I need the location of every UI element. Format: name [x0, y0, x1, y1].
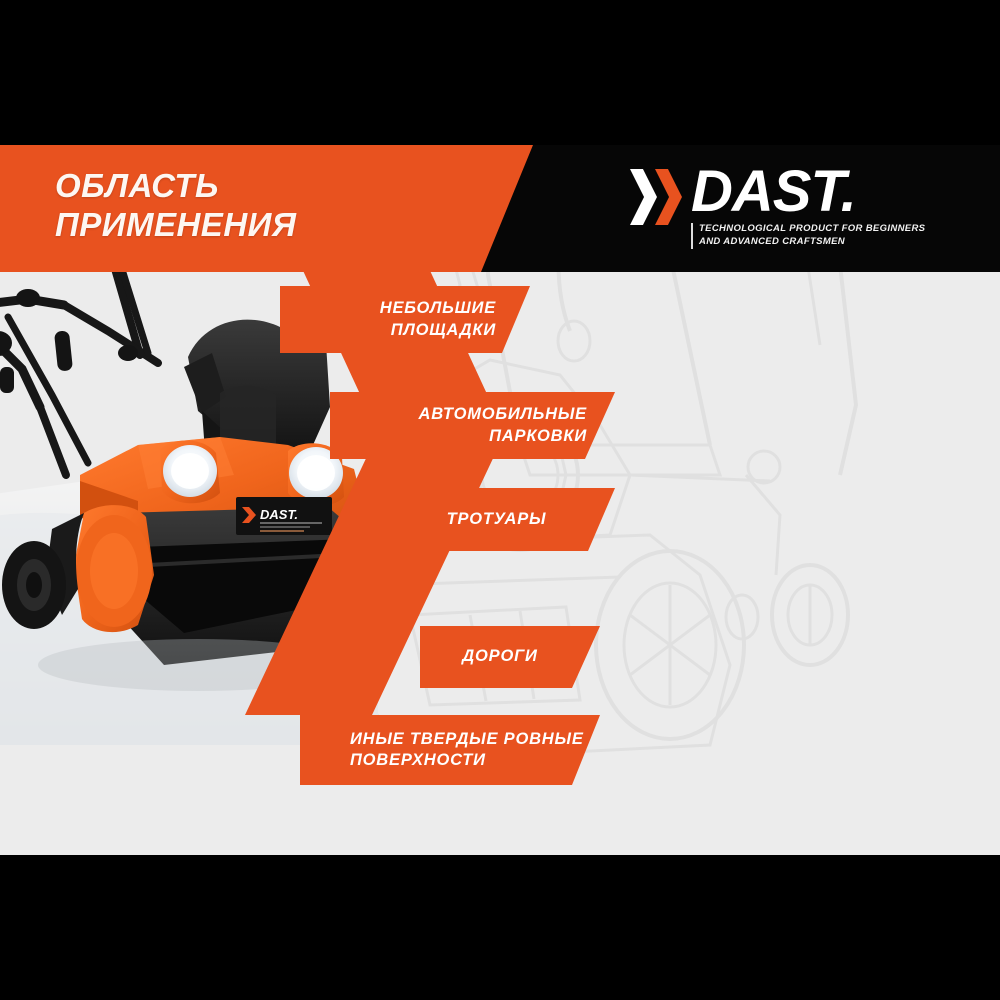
logo-chevron-group	[630, 169, 682, 225]
tab-1-line-2: ПЛОЩАДКИ	[380, 320, 496, 341]
brand-logo[interactable]: DAST. TECHNOLOGICAL PRODUCT FOR BEGINNER…	[630, 165, 925, 249]
chevron-right-icon-white	[630, 169, 657, 225]
tagline-line-2: AND ADVANCED CRAFTSMEN	[699, 236, 925, 249]
tab-5-line-1: ИНЫЕ ТВЕРДЫЕ РОВНЫЕ	[350, 729, 584, 750]
chevron-right-icon-orange	[655, 169, 682, 225]
tagline-line-1: TECHNOLOGICAL PRODUCT FOR BEGINNERS	[699, 223, 925, 236]
poster-canvas: DAST. НЕБОЛЬШИЕ ПЛОЩАДКИ	[0, 0, 1000, 1000]
tab-roads[interactable]: ДОРОГИ	[420, 626, 600, 688]
tab-4-line-1: ДОРОГИ	[462, 646, 537, 667]
tab-other-hard-flat-surfaces[interactable]: ИНЫЕ ТВЕРДЫЕ РОВНЫЕ ПОВЕРХНОСТИ	[300, 715, 600, 785]
bottom-letterbox	[0, 855, 1000, 1000]
svg-text:DAST.: DAST.	[260, 507, 298, 522]
tagline-divider	[691, 223, 693, 249]
page-title: ОБЛАСТЬ ПРИМЕНЕНИЯ	[55, 167, 296, 244]
tab-2-line-1: АВТОМОБИЛЬНЫЕ	[419, 404, 587, 425]
page-title-line-1: ОБЛАСТЬ	[55, 167, 296, 206]
brand-tagline: TECHNOLOGICAL PRODUCT FOR BEGINNERS AND …	[691, 223, 925, 249]
brand-wordmark: DAST.	[691, 165, 925, 218]
tab-2-line-2: ПАРКОВКИ	[419, 426, 587, 447]
tab-sidewalks[interactable]: ТРОТУАРЫ	[400, 488, 615, 551]
tab-1-line-1: НЕБОЛЬШИЕ	[380, 298, 496, 319]
page-title-line-2: ПРИМЕНЕНИЯ	[55, 206, 296, 245]
tab-small-areas[interactable]: НЕБОЛЬШИЕ ПЛОЩАДКИ	[280, 286, 530, 353]
content-panel: DAST. НЕБОЛЬШИЕ ПЛОЩАДКИ	[0, 145, 1000, 855]
top-letterbox	[0, 0, 1000, 145]
tab-car-parkings[interactable]: АВТОМОБИЛЬНЫЕ ПАРКОВКИ	[330, 392, 615, 459]
tab-3-line-1: ТРОТУАРЫ	[447, 509, 547, 530]
tab-5-line-2: ПОВЕРХНОСТИ	[350, 750, 584, 771]
